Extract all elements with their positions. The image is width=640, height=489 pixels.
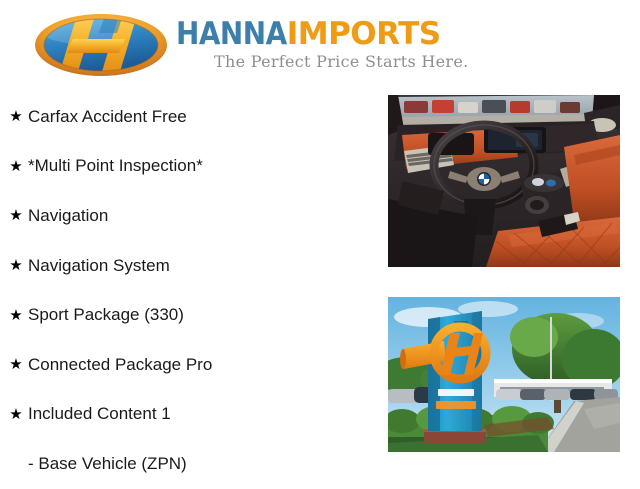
brand-wordmark: HANNAIMPORTS: [176, 17, 441, 51]
star-bullet-icon: ★: [8, 159, 24, 174]
feature-sub-label: - Base Vehicle (ZPN): [28, 454, 187, 474]
list-item: ★ Included Content 1: [0, 390, 380, 440]
star-bullet-icon: ★: [8, 308, 24, 323]
vehicle-feature-list: ★ Carfax Accident Free ★ *Multi Point In…: [0, 92, 380, 489]
brand-name-imports: IMPORTS: [287, 16, 441, 52]
list-item: ★ *Multi Point Inspection*: [0, 142, 380, 192]
brand-tagline: The Perfect Price Starts Here.: [214, 52, 469, 71]
star-bullet-icon: ★: [8, 208, 24, 223]
feature-label: Navigation System: [28, 256, 170, 276]
star-bullet-icon: ★: [8, 109, 24, 124]
feature-label: Carfax Accident Free: [28, 107, 187, 127]
list-item-sub: - Base Vehicle (ZPN): [0, 439, 380, 489]
vehicle-interior-photo: [388, 95, 620, 267]
brand-name-hanna: HANNA: [176, 16, 287, 52]
feature-label: Connected Package Pro: [28, 355, 212, 375]
hanna-oval-h-logo-icon: [33, 13, 169, 77]
dealership-sign-photo: [388, 297, 620, 452]
list-item: ★ Connected Package Pro: [0, 340, 380, 390]
dealer-header: HANNAIMPORTS The Perfect Price Starts He…: [0, 0, 640, 88]
star-bullet-icon: ★: [8, 407, 24, 422]
feature-label: Sport Package (330): [28, 305, 184, 325]
feature-label: Included Content 1: [28, 404, 171, 424]
list-item: ★ Navigation System: [0, 241, 380, 291]
feature-label: *Multi Point Inspection*: [28, 156, 203, 176]
list-item: ★ Sport Package (330): [0, 290, 380, 340]
feature-label: Navigation: [28, 206, 108, 226]
star-bullet-icon: ★: [8, 357, 24, 372]
list-item: ★ Carfax Accident Free: [0, 92, 380, 142]
star-bullet-icon: ★: [8, 258, 24, 273]
list-item: ★ Navigation: [0, 191, 380, 241]
